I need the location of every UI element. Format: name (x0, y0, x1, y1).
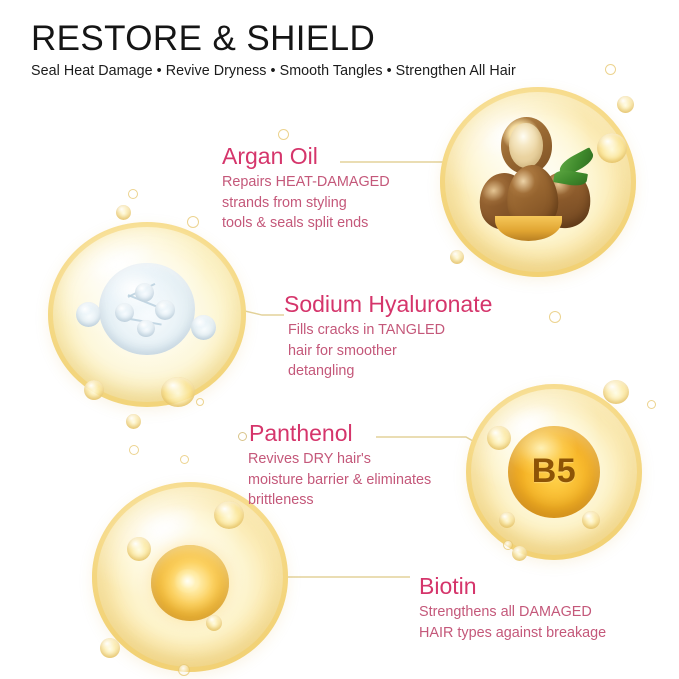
ingredient-name: Biotin (419, 574, 606, 599)
ingredient-block-panthenol: Panthenol Revives DRY hair's moisture ba… (249, 421, 431, 511)
b5-droplet: B5 (466, 384, 642, 560)
description-line: strands from styling (222, 193, 390, 213)
bullet-marker-icon (238, 432, 247, 441)
molecule-icon (99, 263, 194, 356)
ingredient-description: Revives DRY hair's moisture barrier & el… (248, 449, 431, 510)
oil-bubble (100, 638, 120, 658)
description-line: hair for smoother (288, 341, 492, 361)
description-line: tools & seals split ends (222, 213, 390, 233)
oil-bubble (597, 133, 627, 163)
oil-bubble (499, 512, 515, 528)
oil-bubble (116, 205, 131, 220)
ingredient-name: Argan Oil (222, 144, 390, 169)
ingredient-block-biotin: Biotin Strengthens all DAMAGED HAIR type… (419, 574, 606, 643)
oil-bubble (605, 64, 616, 75)
oil-bubble (603, 380, 629, 404)
oil-bubble (617, 96, 634, 113)
description-line: Repairs HEAT-DAMAGED (222, 172, 390, 192)
oil-bubble (187, 216, 199, 228)
b5-label: B5 (532, 452, 576, 491)
description-line: detangling (288, 361, 492, 381)
page-subtitle: Seal Heat Damage • Revive Dryness • Smoo… (31, 63, 631, 79)
oil-bubble (196, 398, 204, 406)
ingredient-block-argan-oil: Argan Oil Repairs HEAT-DAMAGED strands f… (222, 144, 390, 234)
oil-bubble (582, 511, 600, 529)
ingredient-description: Fills cracks in TANGLED hair for smoothe… (288, 320, 492, 381)
page-title: RESTORE & SHIELD (31, 21, 631, 58)
ingredient-block-sodium-hyaluronate: Sodium Hyaluronate Fills cracks in TANGL… (284, 292, 492, 382)
ingredient-name: Sodium Hyaluronate (284, 292, 492, 317)
oil-bubble (129, 445, 139, 455)
oil-bubble (84, 380, 104, 400)
oil-bubble (128, 189, 138, 199)
oil-bubble (503, 540, 513, 550)
description-line: moisture barrier & eliminates (248, 470, 431, 490)
oil-bubble (278, 129, 289, 140)
oil-bubble (178, 664, 190, 676)
description-line: Fills cracks in TANGLED (288, 320, 492, 340)
molecule-droplet (48, 222, 246, 407)
ingredient-name: Panthenol (249, 421, 431, 446)
glow-core (151, 545, 229, 621)
ingredient-infographic: RESTORE & SHIELD Seal Heat Damage • Revi… (0, 0, 679, 679)
oil-bubble (512, 546, 527, 561)
oil-bubble (647, 400, 656, 409)
argan-nuts-droplet (440, 87, 636, 277)
oil-bubble (450, 250, 464, 264)
description-line: brittleness (248, 490, 431, 510)
description-line: Revives DRY hair's (248, 449, 431, 469)
oil-bubble (126, 414, 141, 429)
oil-bubble (549, 311, 561, 323)
description-line: Strengthens all DAMAGED (419, 602, 606, 622)
oil-bubble (161, 377, 195, 407)
header: RESTORE & SHIELD Seal Heat Damage • Revi… (31, 21, 631, 79)
description-line: HAIR types against breakage (419, 623, 606, 643)
oil-bubble (206, 615, 222, 631)
oil-bubble (214, 501, 244, 529)
ingredient-description: Repairs HEAT-DAMAGED strands from stylin… (222, 172, 390, 233)
ingredient-description: Strengthens all DAMAGED HAIR types again… (419, 602, 606, 643)
oil-bubble (180, 455, 189, 464)
b5-core: B5 (508, 426, 600, 518)
